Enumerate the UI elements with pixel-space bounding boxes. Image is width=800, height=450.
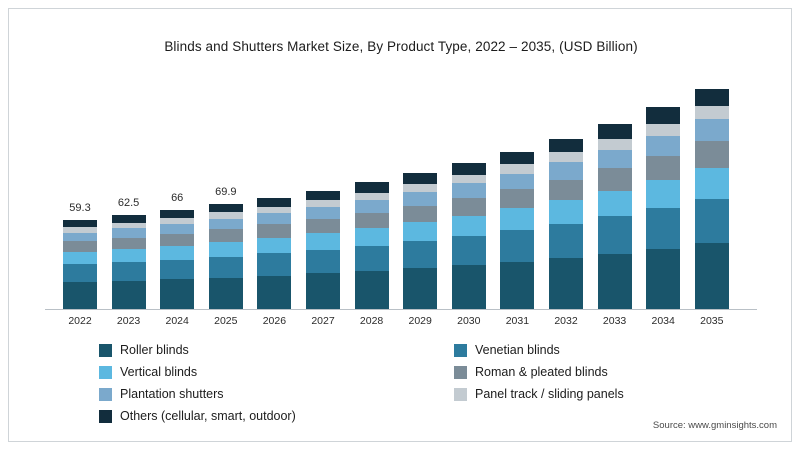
bar-segment — [355, 193, 389, 201]
chart-title: Blinds and Shutters Market Size, By Prod… — [9, 39, 793, 54]
legend-row-2: Vertical blinds Roman & pleated blinds — [99, 361, 719, 383]
bar-column[interactable] — [160, 210, 194, 309]
bar-segment — [209, 242, 243, 257]
bar-segment — [403, 268, 437, 309]
bar-segment — [112, 228, 146, 237]
bar-segment — [403, 222, 437, 241]
legend-item-venetian-blinds[interactable]: Venetian blinds — [454, 339, 560, 361]
bar-segment — [257, 253, 291, 275]
legend-item-panel-track-sliding-panels[interactable]: Panel track / sliding panels — [454, 383, 624, 405]
bar-segment — [209, 229, 243, 242]
bar-segment — [500, 208, 534, 230]
bar-segment — [355, 213, 389, 228]
bar-column[interactable] — [549, 139, 583, 309]
bar-segment — [452, 163, 486, 175]
bar-segment — [160, 224, 194, 234]
bar-segment — [355, 182, 389, 192]
bar-segment — [500, 262, 534, 309]
bar-segment — [598, 191, 632, 217]
bar-segment — [452, 175, 486, 184]
bar-segment — [355, 228, 389, 246]
bar-segment — [403, 184, 437, 192]
bar-segment — [112, 281, 146, 309]
bar-segment — [500, 189, 534, 208]
legend-item-others[interactable]: Others (cellular, smart, outdoor) — [99, 405, 296, 427]
x-axis-line — [45, 309, 757, 310]
bar-segment — [257, 207, 291, 214]
bar-segment — [598, 124, 632, 139]
bar-segment — [257, 198, 291, 207]
legend-swatch-roller-blinds — [99, 344, 112, 357]
bar-column[interactable] — [306, 191, 340, 309]
bar-segment — [646, 124, 680, 136]
bar-segment — [209, 257, 243, 278]
bar-segment — [403, 241, 437, 268]
bar-segment — [257, 238, 291, 254]
bar-segment — [695, 119, 729, 141]
bar-segment — [209, 204, 243, 212]
bar-segment — [160, 260, 194, 280]
legend-swatch-roman-pleated-blinds — [454, 366, 467, 379]
legend-swatch-others — [99, 410, 112, 423]
bar-segment — [646, 107, 680, 123]
bar-segment — [257, 213, 291, 224]
legend-item-roller-blinds[interactable]: Roller blinds — [99, 339, 189, 361]
legend-item-plantation-shutters[interactable]: Plantation shutters — [99, 383, 224, 405]
source-note: Source: www.gminsights.com — [653, 420, 777, 431]
legend-row-3: Plantation shutters Panel track / slidin… — [99, 383, 719, 405]
bar-segment — [112, 262, 146, 281]
bar-segment — [160, 210, 194, 218]
bar-segment — [598, 254, 632, 310]
bar-segment — [355, 200, 389, 213]
bar-segment — [257, 224, 291, 237]
bar-segment — [112, 215, 146, 222]
bar-segment — [646, 136, 680, 156]
bar-segment — [549, 152, 583, 162]
bar-segment — [306, 200, 340, 207]
legend-item-roman-pleated-blinds[interactable]: Roman & pleated blinds — [454, 361, 608, 383]
bar-segment — [500, 152, 534, 165]
bar-segment — [646, 208, 680, 248]
legend-swatch-vertical-blinds — [99, 366, 112, 379]
bar-segment — [452, 183, 486, 198]
bar-segment — [403, 192, 437, 206]
bar-segment — [209, 219, 243, 230]
bar-segment — [160, 279, 194, 309]
bar-segment — [646, 180, 680, 208]
bar-segment — [306, 233, 340, 250]
bar-column[interactable] — [403, 173, 437, 309]
legend-swatch-plantation-shutters — [99, 388, 112, 401]
bar-segment — [63, 241, 97, 252]
bar-segment — [63, 282, 97, 309]
legend-row-4: Others (cellular, smart, outdoor) — [99, 405, 719, 427]
chart-frame: Blinds and Shutters Market Size, By Prod… — [8, 8, 792, 442]
legend-label-vertical-blinds: Vertical blinds — [120, 365, 197, 379]
bar-segment — [306, 273, 340, 309]
bar-segment — [695, 89, 729, 107]
bar-segment — [695, 243, 729, 309]
bar-column[interactable] — [112, 215, 146, 309]
legend-swatch-panel-track-sliding-panels — [454, 388, 467, 401]
bar-column[interactable] — [598, 124, 632, 309]
legend-label-venetian-blinds: Venetian blinds — [475, 343, 560, 357]
bar-segment — [549, 200, 583, 224]
legend-swatch-venetian-blinds — [454, 344, 467, 357]
bar-segment — [646, 249, 680, 309]
bar-segment — [403, 173, 437, 184]
bar-segment — [452, 198, 486, 216]
bar-column[interactable] — [209, 204, 243, 309]
legend-label-roller-blinds: Roller blinds — [120, 343, 189, 357]
bar-segment — [63, 220, 97, 227]
bar-segment — [598, 139, 632, 150]
bar-segment — [112, 238, 146, 249]
bar-segment — [598, 216, 632, 253]
bar-segment — [306, 250, 340, 274]
bar-segment — [646, 156, 680, 180]
bar-segment — [500, 230, 534, 262]
legend-label-roman-pleated-blinds: Roman & pleated blinds — [475, 365, 608, 379]
bar-segment — [257, 276, 291, 309]
bar-segment — [500, 164, 534, 173]
legend-row-1: Roller blinds Venetian blinds — [99, 339, 719, 361]
bar-segment — [452, 216, 486, 236]
bar-segment — [598, 168, 632, 190]
bar-column[interactable] — [500, 152, 534, 309]
bar-value-label: 69.9 — [191, 186, 261, 198]
chart-legend: Roller blinds Venetian blinds Vertical b… — [99, 339, 719, 427]
bar-segment — [355, 271, 389, 309]
bar-segment — [452, 265, 486, 309]
bar-segment — [63, 252, 97, 264]
bar-segment — [355, 246, 389, 271]
bar-segment — [306, 207, 340, 219]
bar-segment — [452, 236, 486, 265]
bar-segment — [549, 224, 583, 258]
legend-label-others: Others (cellular, smart, outdoor) — [120, 409, 296, 423]
bar-segment — [209, 278, 243, 310]
bar-segment — [160, 234, 194, 246]
bar-column[interactable] — [355, 182, 389, 309]
bar-segment — [549, 180, 583, 200]
bar-segment — [306, 219, 340, 233]
bar-segment — [306, 191, 340, 200]
bar-column[interactable] — [257, 198, 291, 309]
bar-segment — [63, 233, 97, 242]
bar-segment — [549, 162, 583, 179]
bar-column[interactable] — [452, 163, 486, 309]
bar-segment — [403, 206, 437, 222]
bar-segment — [695, 168, 729, 199]
bar-segment — [160, 246, 194, 260]
legend-item-vertical-blinds[interactable]: Vertical blinds — [99, 361, 197, 383]
bar-segment — [695, 199, 729, 243]
legend-label-plantation-shutters: Plantation shutters — [120, 387, 224, 401]
bar-segment — [112, 249, 146, 262]
bar-column[interactable] — [646, 107, 680, 309]
x-axis-tick-label: 2035 — [677, 315, 747, 327]
bar-segment — [500, 174, 534, 190]
bar-segment — [695, 106, 729, 119]
bar-segment — [598, 150, 632, 168]
bar-column[interactable] — [63, 220, 97, 309]
bar-segment — [695, 141, 729, 167]
bar-segment — [549, 258, 583, 309]
bar-column[interactable] — [695, 89, 729, 309]
bar-segment — [549, 139, 583, 153]
legend-label-panel-track-sliding-panels: Panel track / sliding panels — [475, 387, 624, 401]
bar-segment — [63, 264, 97, 282]
